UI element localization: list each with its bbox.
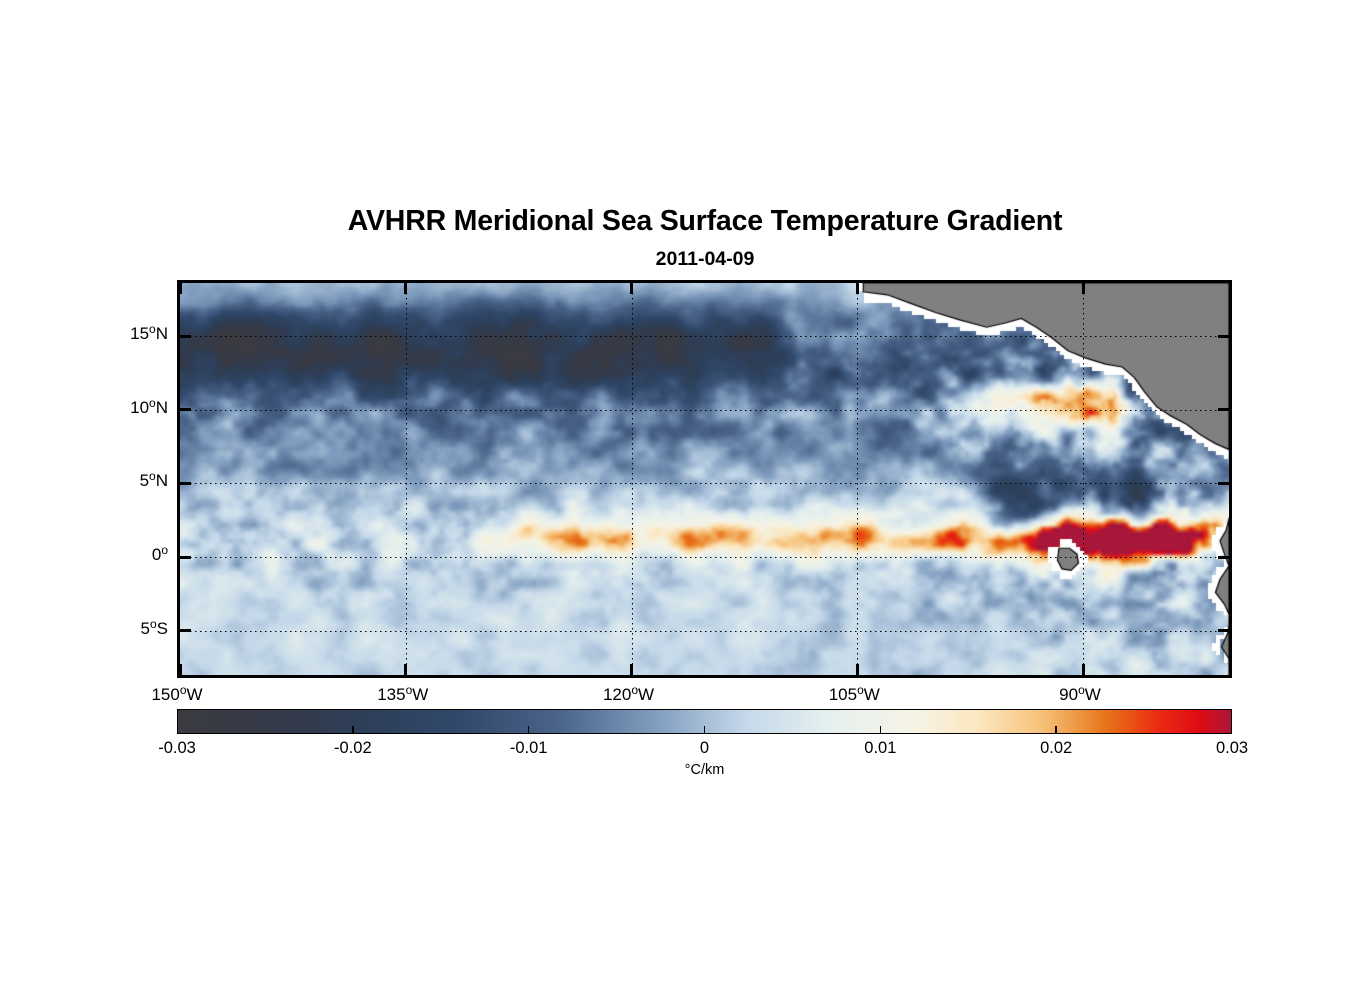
figure-canvas: AVHRR Meridional Sea Surface Temperature… [0, 0, 1356, 1000]
y-axis-tick-label: 10oN [0, 396, 168, 418]
y-axis-tick-label: 15oN [0, 322, 168, 344]
x-axis-tick-label: 150oW [151, 683, 202, 705]
y-axis-tick-label: 0o [0, 543, 168, 565]
colorbar[interactable] [177, 709, 1232, 734]
x-axis-tick-label: 105oW [829, 683, 880, 705]
figure-subtitle-date: 2011-04-09 [177, 246, 1233, 272]
colorbar-tick [528, 726, 530, 734]
colorbar-tick-label: -0.03 [158, 739, 196, 758]
colorbar-tick [880, 726, 882, 734]
sst-gradient-heatmap[interactable] [180, 283, 1229, 675]
colorbar-tick-label: 0 [700, 739, 709, 758]
colorbar-unit-label: °C/km [177, 762, 1232, 778]
colorbar-tick-label: -0.01 [510, 739, 548, 758]
map-axes[interactable] [177, 280, 1232, 678]
colorbar-tick [704, 726, 706, 734]
colorbar-tick [1055, 726, 1057, 734]
colorbar-tick-label: 0.03 [1216, 739, 1248, 758]
colorbar-tick-label: -0.02 [334, 739, 372, 758]
x-axis-tick-label: 120oW [603, 683, 654, 705]
colorbar-tick-label: 0.02 [1040, 739, 1072, 758]
page-title: AVHRR Meridional Sea Surface Temperature… [177, 204, 1233, 238]
x-axis-tick-label: 135oW [377, 683, 428, 705]
title-block: AVHRR Meridional Sea Surface Temperature… [177, 204, 1233, 272]
colorbar-tick-label: 0.01 [864, 739, 896, 758]
y-axis-tick-label: 5oN [0, 469, 168, 491]
y-axis-tick-label: 5oS [0, 617, 168, 639]
colorbar-tick [352, 726, 354, 734]
x-axis-tick-label: 90oW [1059, 683, 1101, 705]
